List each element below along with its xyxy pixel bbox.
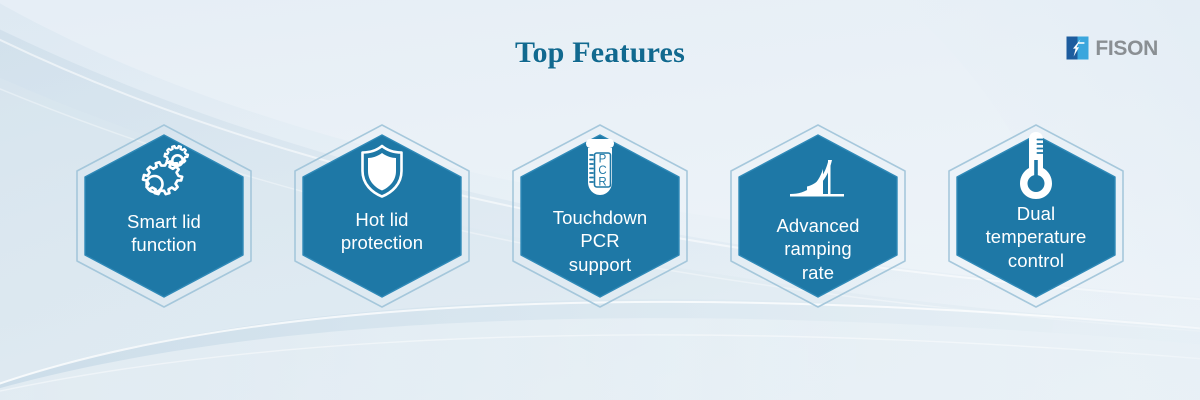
gears-icon: [130, 142, 198, 204]
svg-text:R: R: [598, 177, 606, 189]
svg-text:C: C: [598, 165, 606, 177]
feature-card-hot-lid-protection[interactable]: Hot lid protection: [283, 118, 481, 314]
feature-label-line1: Hot lid: [302, 208, 462, 231]
feature-label-line3: rate: [738, 261, 898, 284]
shield-icon: [356, 140, 408, 202]
feature-card-dual-temperature-control[interactable]: Dual temperature control: [937, 118, 1135, 314]
thermometer-icon: [1015, 134, 1057, 196]
features-row: Smart lid function Hot lid: [0, 118, 1200, 318]
feature-label-line2: ramping: [738, 237, 898, 260]
feature-label-line2: function: [84, 233, 244, 256]
fison-logo-text: FISON: [1095, 38, 1158, 59]
feature-label-line3: support: [520, 253, 680, 276]
feature-card-advanced-ramping-rate[interactable]: Advanced ramping rate: [719, 118, 917, 314]
fison-logo[interactable]: FISON: [1066, 36, 1158, 60]
feature-label: Hot lid protection: [302, 208, 462, 255]
feature-label-line1: Advanced: [738, 214, 898, 237]
feature-card-smart-lid-function[interactable]: Smart lid function: [65, 118, 263, 314]
page-title: Top Features: [0, 36, 1200, 70]
feature-label: Advanced ramping rate: [738, 214, 898, 284]
feature-label-line3: control: [956, 249, 1116, 272]
fison-logo-mark: [1066, 36, 1090, 60]
feature-label-line1: Touchdown: [520, 206, 680, 229]
pcr-tube-icon: P C R: [577, 138, 623, 200]
ramp-curve-icon: [787, 146, 849, 208]
feature-label: Dual temperature control: [956, 202, 1116, 272]
feature-card-touchdown-pcr-support[interactable]: P C R Touchdown PCR support: [501, 118, 699, 314]
feature-label: Smart lid function: [84, 210, 244, 257]
feature-label-line2: temperature: [956, 225, 1116, 248]
feature-label-line1: Smart lid: [84, 210, 244, 233]
top-features-banner: Top Features FISON: [0, 0, 1200, 400]
feature-label: Touchdown PCR support: [520, 206, 680, 276]
feature-label-line1: Dual: [956, 202, 1116, 225]
feature-label-line2: protection: [302, 231, 462, 254]
feature-label-line2: PCR: [520, 229, 680, 252]
svg-text:P: P: [599, 154, 607, 166]
